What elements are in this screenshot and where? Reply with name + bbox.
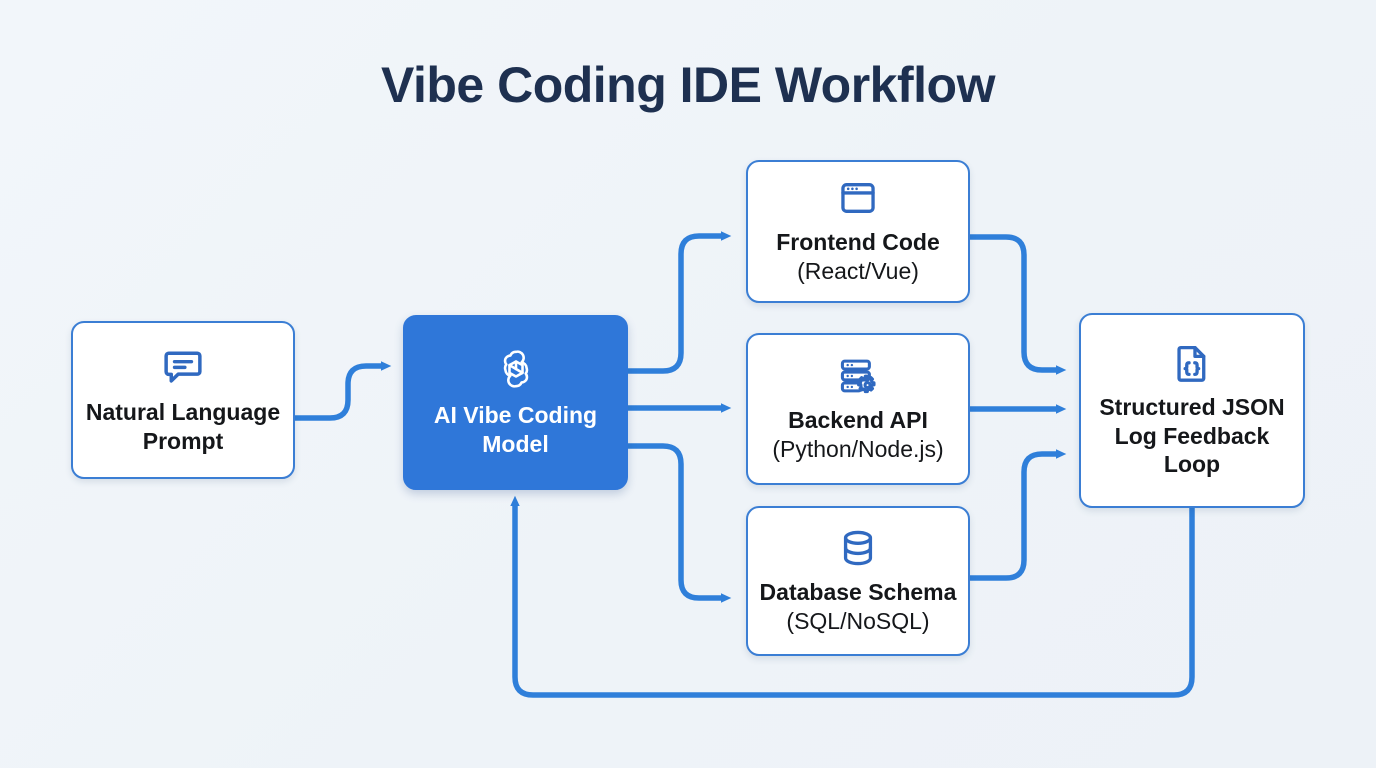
openai-logo-icon bbox=[493, 346, 539, 392]
node-label: Natural Language bbox=[86, 398, 280, 427]
edge-frontend-to-json bbox=[970, 237, 1057, 370]
edge-model-to-database bbox=[628, 446, 722, 598]
server-gear-icon bbox=[837, 355, 879, 397]
edge-database-to-json bbox=[970, 454, 1057, 578]
edge-model-to-frontend bbox=[628, 236, 722, 371]
node-label: Structured JSON bbox=[1099, 393, 1284, 422]
chat-bubble-icon bbox=[161, 345, 205, 389]
node-natural-language-prompt[interactable]: Natural Language Prompt bbox=[71, 321, 295, 479]
node-label-line2: Prompt bbox=[143, 427, 224, 456]
node-database-schema[interactable]: Database Schema (SQL/NoSQL) bbox=[746, 506, 970, 656]
diagram-canvas: Vibe Coding IDE Workflow bbox=[0, 0, 1376, 768]
browser-window-icon bbox=[837, 177, 879, 219]
node-label: Backend API bbox=[788, 406, 928, 435]
node-label-line2: Log Feedback bbox=[1115, 422, 1270, 451]
node-backend-api[interactable]: Backend API (Python/Node.js) bbox=[746, 333, 970, 485]
json-file-icon bbox=[1171, 342, 1213, 384]
node-label-line2: Model bbox=[482, 430, 548, 459]
node-sublabel: (React/Vue) bbox=[797, 257, 919, 286]
node-sublabel: (Python/Node.js) bbox=[772, 435, 943, 464]
node-label: Database Schema bbox=[760, 578, 957, 607]
node-label: AI Vibe Coding bbox=[434, 401, 597, 430]
edge-prompt-to-model bbox=[295, 366, 382, 418]
node-label: Frontend Code bbox=[776, 228, 940, 257]
node-frontend-code[interactable]: Frontend Code (React/Vue) bbox=[746, 160, 970, 303]
node-structured-json-log-feedback-loop[interactable]: Structured JSON Log Feedback Loop bbox=[1079, 313, 1305, 508]
node-sublabel: (SQL/NoSQL) bbox=[786, 607, 929, 636]
node-ai-vibe-coding-model[interactable]: AI Vibe Coding Model bbox=[403, 315, 628, 490]
node-label-line3: Loop bbox=[1164, 450, 1220, 479]
database-cylinder-icon bbox=[837, 527, 879, 569]
